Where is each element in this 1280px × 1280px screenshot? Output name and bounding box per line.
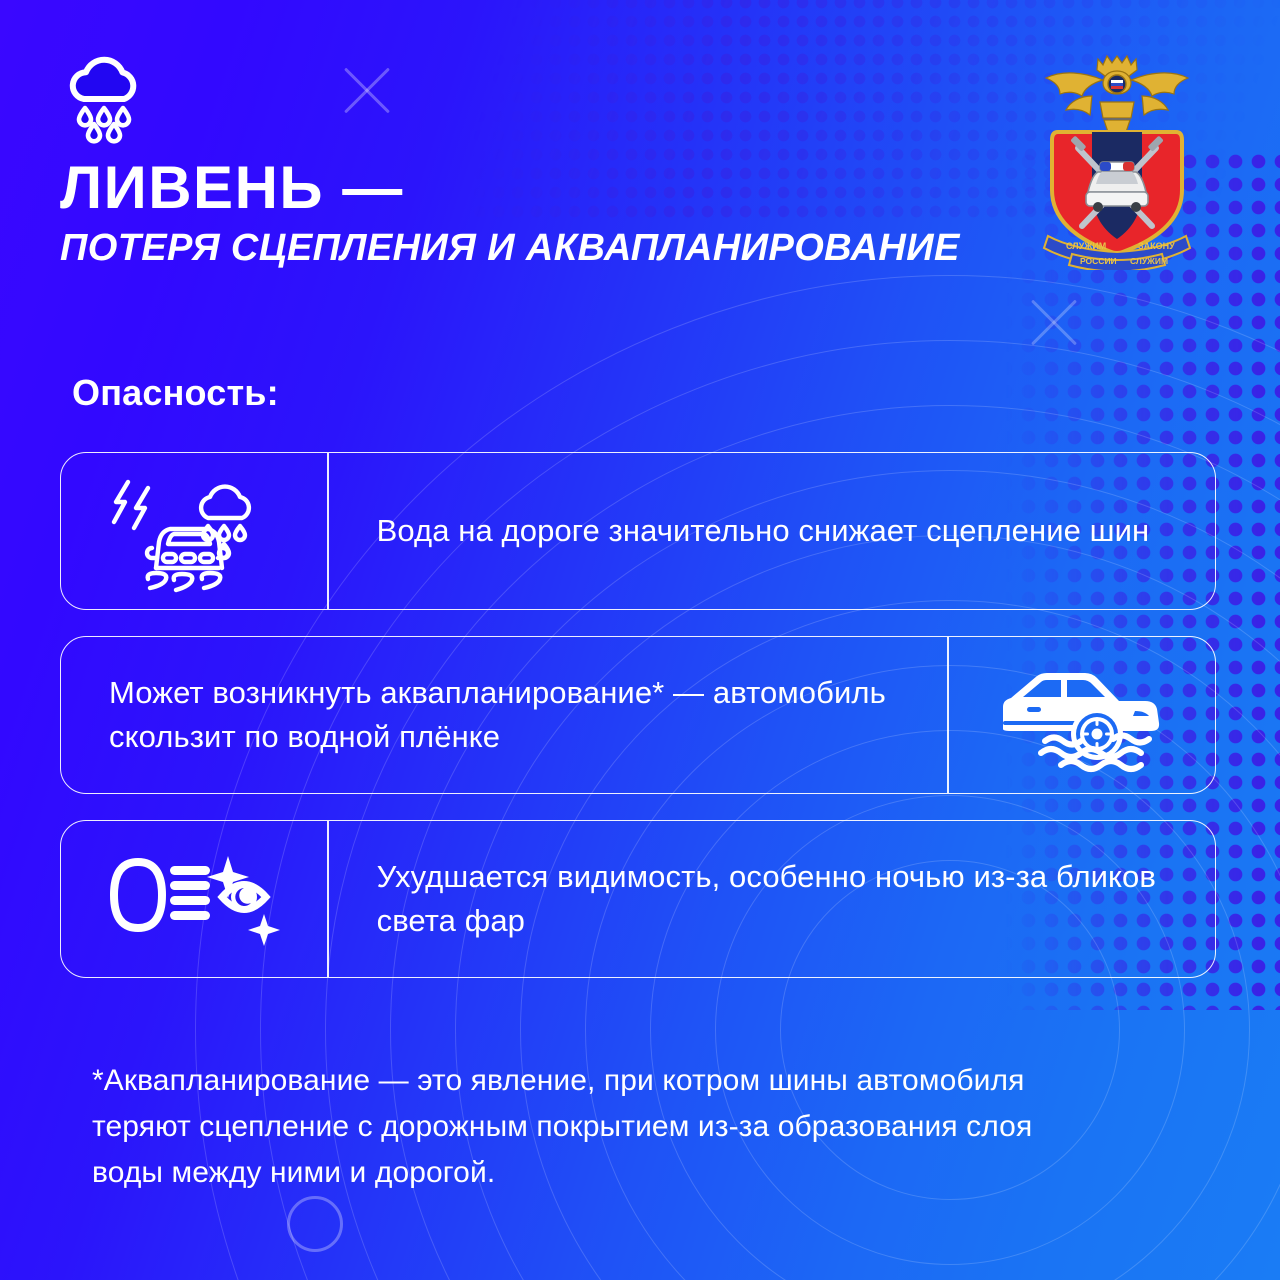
car-skidding-rain-lightning-icon	[104, 466, 284, 596]
eagle-rider	[1111, 80, 1123, 89]
danger-cards-list: Вода на дороге значительно снижает сцепл…	[60, 452, 1216, 1004]
motto-right: ЗАКОНУ	[1138, 241, 1175, 251]
header: ЛИВЕНЬ — ПОТЕРЯ СЦЕПЛЕНИЯ И АКВАПЛАНИРОВ…	[60, 52, 1220, 269]
card-2-text: Может возникнуть аквапланирование* — авт…	[61, 637, 947, 793]
motto-left: СЛУЖИМ	[1066, 241, 1106, 251]
card-1-text: Вода на дороге значительно снижает сцепл…	[329, 453, 1215, 609]
poster-root: ЛИВЕНЬ — ПОТЕРЯ СЦЕПЛЕНИЯ И АКВАПЛАНИРОВ…	[0, 0, 1280, 1280]
circle-outline-decoration	[287, 1196, 343, 1252]
card-2-icon-cell	[949, 637, 1215, 793]
cross-mark-icon-middle	[1023, 290, 1085, 352]
card-1-icon-cell	[61, 453, 327, 609]
gibdd-emblem: СЛУЖИМ ЗАКОНУ РОССИИ СЛУЖИМ	[1026, 40, 1208, 270]
headlight-glare-eye-icon	[94, 844, 294, 954]
table-row: Ухудшается видимость, особенно ночью из-…	[60, 820, 1216, 978]
car-aquaplaning-water-icon	[987, 655, 1177, 775]
motto-center-bottom: СЛУЖИМ	[1130, 256, 1168, 266]
motto-center-top: РОССИИ	[1080, 256, 1117, 266]
double-headed-eagle	[1046, 56, 1188, 132]
card-3-text: Ухудшается видимость, особенно ночью из-…	[329, 821, 1215, 977]
table-row: Вода на дороге значительно снижает сцепл…	[60, 452, 1216, 610]
card-3-icon-cell	[61, 821, 327, 977]
table-row: Может возникнуть аквапланирование* — авт…	[60, 636, 1216, 794]
aquaplaning-footnote: *Аквапланирование — это явление, при кот…	[92, 1058, 1102, 1197]
rain-cloud-icon	[60, 52, 152, 144]
danger-section-heading: Опасность:	[72, 372, 279, 414]
